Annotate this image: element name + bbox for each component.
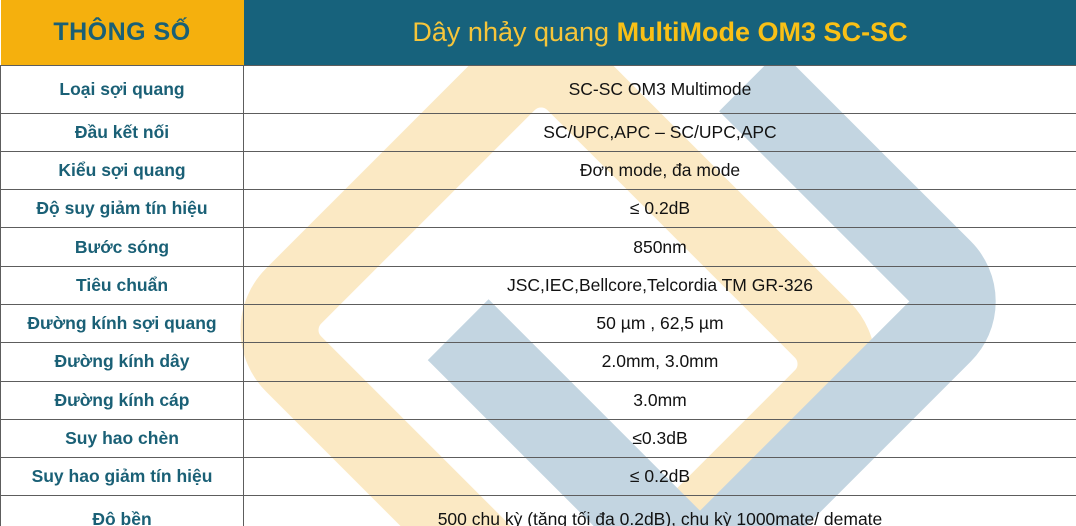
table-row: Suy hao giảm tín hiệu ≤ 0.2dB <box>1 458 1076 496</box>
table-body: Loại sợi quang SC-SC OM3 Multimode Đầu k… <box>1 65 1076 526</box>
spec-value: 850nm <box>244 228 1076 266</box>
spec-label: Độ suy giảm tín hiệu <box>1 190 244 228</box>
spec-label: Đường kính cáp <box>1 381 244 419</box>
spec-label: Độ bền <box>1 496 244 526</box>
spec-value: ≤ 0.2dB <box>244 190 1076 228</box>
spec-label: Đầu kết nối <box>1 113 244 151</box>
table-row: Đầu kết nối SC/UPC,APC – SC/UPC,APC <box>1 113 1076 151</box>
spec-label: Bước sóng <box>1 228 244 266</box>
header-cell-product-title: Dây nhảy quang MultiMode OM3 SC-SC <box>244 0 1076 65</box>
table-row: Bước sóng 850nm <box>1 228 1076 266</box>
spec-label: Suy hao chèn <box>1 419 244 457</box>
header-cell-parameter: THÔNG SỐ <box>1 0 244 65</box>
product-spec-sheet: THÔNG SỐ Dây nhảy quang MultiMode OM3 SC… <box>0 0 1076 526</box>
table-row: Tiêu chuẩn JSC,IEC,Bellcore,Telcordia TM… <box>1 266 1076 304</box>
product-title-bold: MultiMode OM3 SC-SC <box>617 17 908 47</box>
product-title-light: Dây nhảy quang <box>412 17 609 47</box>
spec-label: Suy hao giảm tín hiệu <box>1 458 244 496</box>
spec-value: 50 µm , 62,5 µm <box>244 304 1076 342</box>
spec-label: Đường kính sợi quang <box>1 304 244 342</box>
spec-value: 500 chu kỳ (tăng tối đa 0.2dB), chu kỳ 1… <box>244 496 1076 526</box>
table-row: Đường kính dây 2.0mm, 3.0mm <box>1 343 1076 381</box>
product-title-space <box>609 17 617 47</box>
table-row: Kiểu sợi quang Đơn mode, đa mode <box>1 151 1076 189</box>
spec-label: Tiêu chuẩn <box>1 266 244 304</box>
spec-label: Kiểu sợi quang <box>1 151 244 189</box>
table-row: Đường kính cáp 3.0mm <box>1 381 1076 419</box>
table-row: Độ bền 500 chu kỳ (tăng tối đa 0.2dB), c… <box>1 496 1076 526</box>
table-row: Suy hao chèn ≤0.3dB <box>1 419 1076 457</box>
table-row: Độ suy giảm tín hiệu ≤ 0.2dB <box>1 190 1076 228</box>
spec-value: 3.0mm <box>244 381 1076 419</box>
spec-label: Đường kính dây <box>1 343 244 381</box>
specifications-table: THÔNG SỐ Dây nhảy quang MultiMode OM3 SC… <box>0 0 1076 526</box>
spec-value: SC/UPC,APC – SC/UPC,APC <box>244 113 1076 151</box>
spec-value: 2.0mm, 3.0mm <box>244 343 1076 381</box>
spec-value: JSC,IEC,Bellcore,Telcordia TM GR-326 <box>244 266 1076 304</box>
spec-value: ≤ 0.2dB <box>244 458 1076 496</box>
table-row: Đường kính sợi quang 50 µm , 62,5 µm <box>1 304 1076 342</box>
spec-value: Đơn mode, đa mode <box>244 151 1076 189</box>
spec-value: SC-SC OM3 Multimode <box>244 65 1076 113</box>
spec-value: ≤0.3dB <box>244 419 1076 457</box>
header-row: THÔNG SỐ Dây nhảy quang MultiMode OM3 SC… <box>1 0 1076 65</box>
table-header: THÔNG SỐ Dây nhảy quang MultiMode OM3 SC… <box>1 0 1076 65</box>
table-row: Loại sợi quang SC-SC OM3 Multimode <box>1 65 1076 113</box>
spec-label: Loại sợi quang <box>1 65 244 113</box>
